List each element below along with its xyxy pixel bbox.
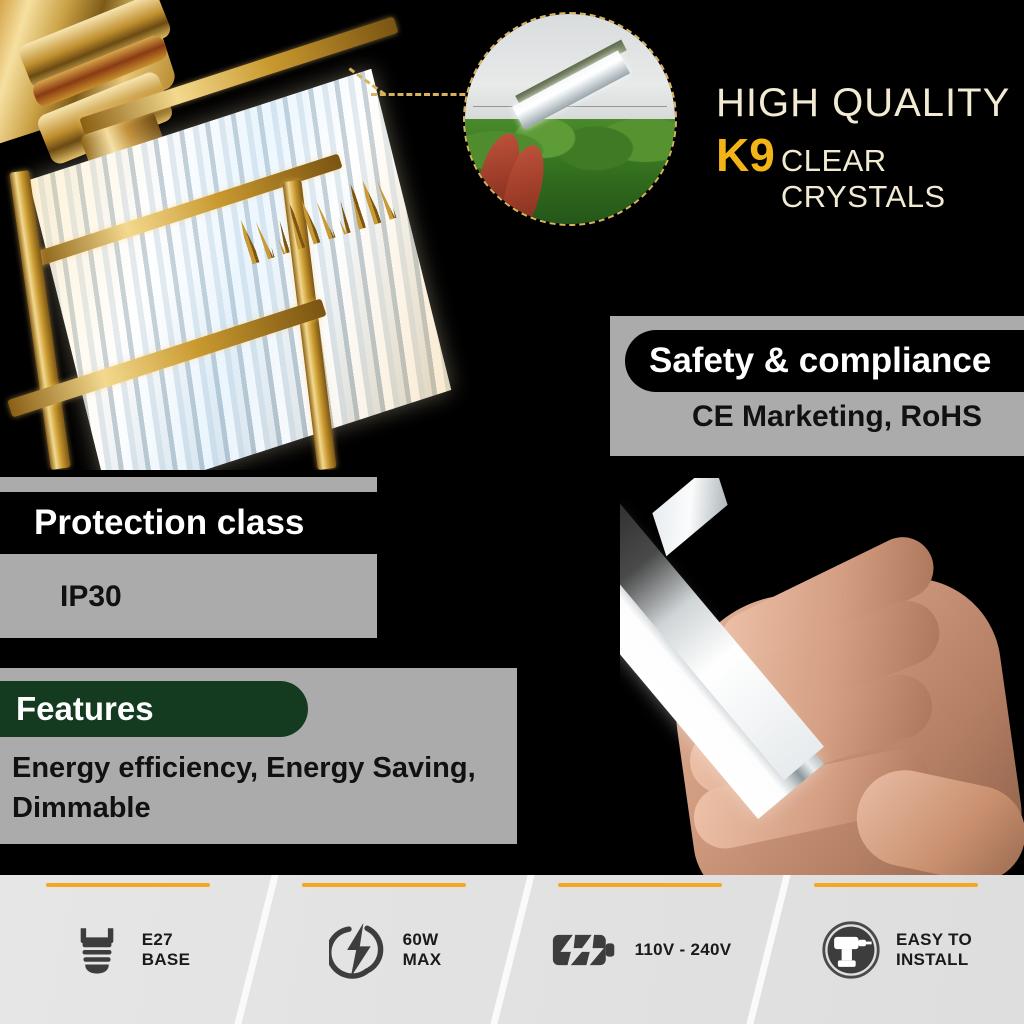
headline-line1: HIGH QUALITY [716,80,1016,126]
accent-rule [814,883,978,887]
spec-label-install: EASY TO INSTALL [896,930,972,970]
features-value: Energy efficiency, Energy Saving, Dimmab… [12,748,542,828]
spec-cell-base: E27 BASE [0,875,256,1024]
battery-bolt-icon [549,919,621,981]
held-crystal-bar-tip [652,478,727,556]
features-title-pill: Features [0,681,308,737]
drill-icon [820,919,882,981]
bottom-spec-bar: E27 BASE 60W MAX [0,875,1024,1024]
spec-label-voltage: 110V - 240V [635,940,732,960]
spec-cell-wattage: 60W MAX [256,875,512,1024]
bulb-base-icon [66,919,128,981]
spec-label-wattage: 60W MAX [403,930,442,970]
infographic-canvas: HIGH QUALITY K9 CLEAR CRYSTALS Safety & … [0,0,1024,1024]
safety-compliance-title: Safety & compliance [649,341,991,381]
crystal-lamp-photo [0,0,470,470]
crystal-closeup-inset-photo [463,12,677,226]
headline-line2-row: K9 CLEAR CRYSTALS [716,128,1016,215]
accent-rule [46,883,210,887]
hand-crystal-photo [620,478,1024,878]
spec-cell-install: EASY TO INSTALL [768,875,1024,1024]
protection-class-value: IP30 [60,580,122,614]
spec-cell-voltage: 110V - 240V [512,875,768,1024]
lightning-bolt-icon [327,919,389,981]
spec-label-base: E27 BASE [142,930,190,970]
protection-class-title-pill: Protection class [0,492,465,554]
accent-rule [558,883,722,887]
headline-line2: CLEAR CRYSTALS [781,143,1016,215]
headline-highlight: K9 [716,128,775,182]
inset-powerline [473,106,666,107]
safety-compliance-value: CE Marketing, RoHS [692,400,982,434]
safety-compliance-title-pill: Safety & compliance [625,330,1024,392]
protection-class-title: Protection class [34,503,304,543]
features-title: Features [16,690,154,728]
accent-rule [302,883,466,887]
headline-block: HIGH QUALITY K9 CLEAR CRYSTALS [716,80,1016,215]
